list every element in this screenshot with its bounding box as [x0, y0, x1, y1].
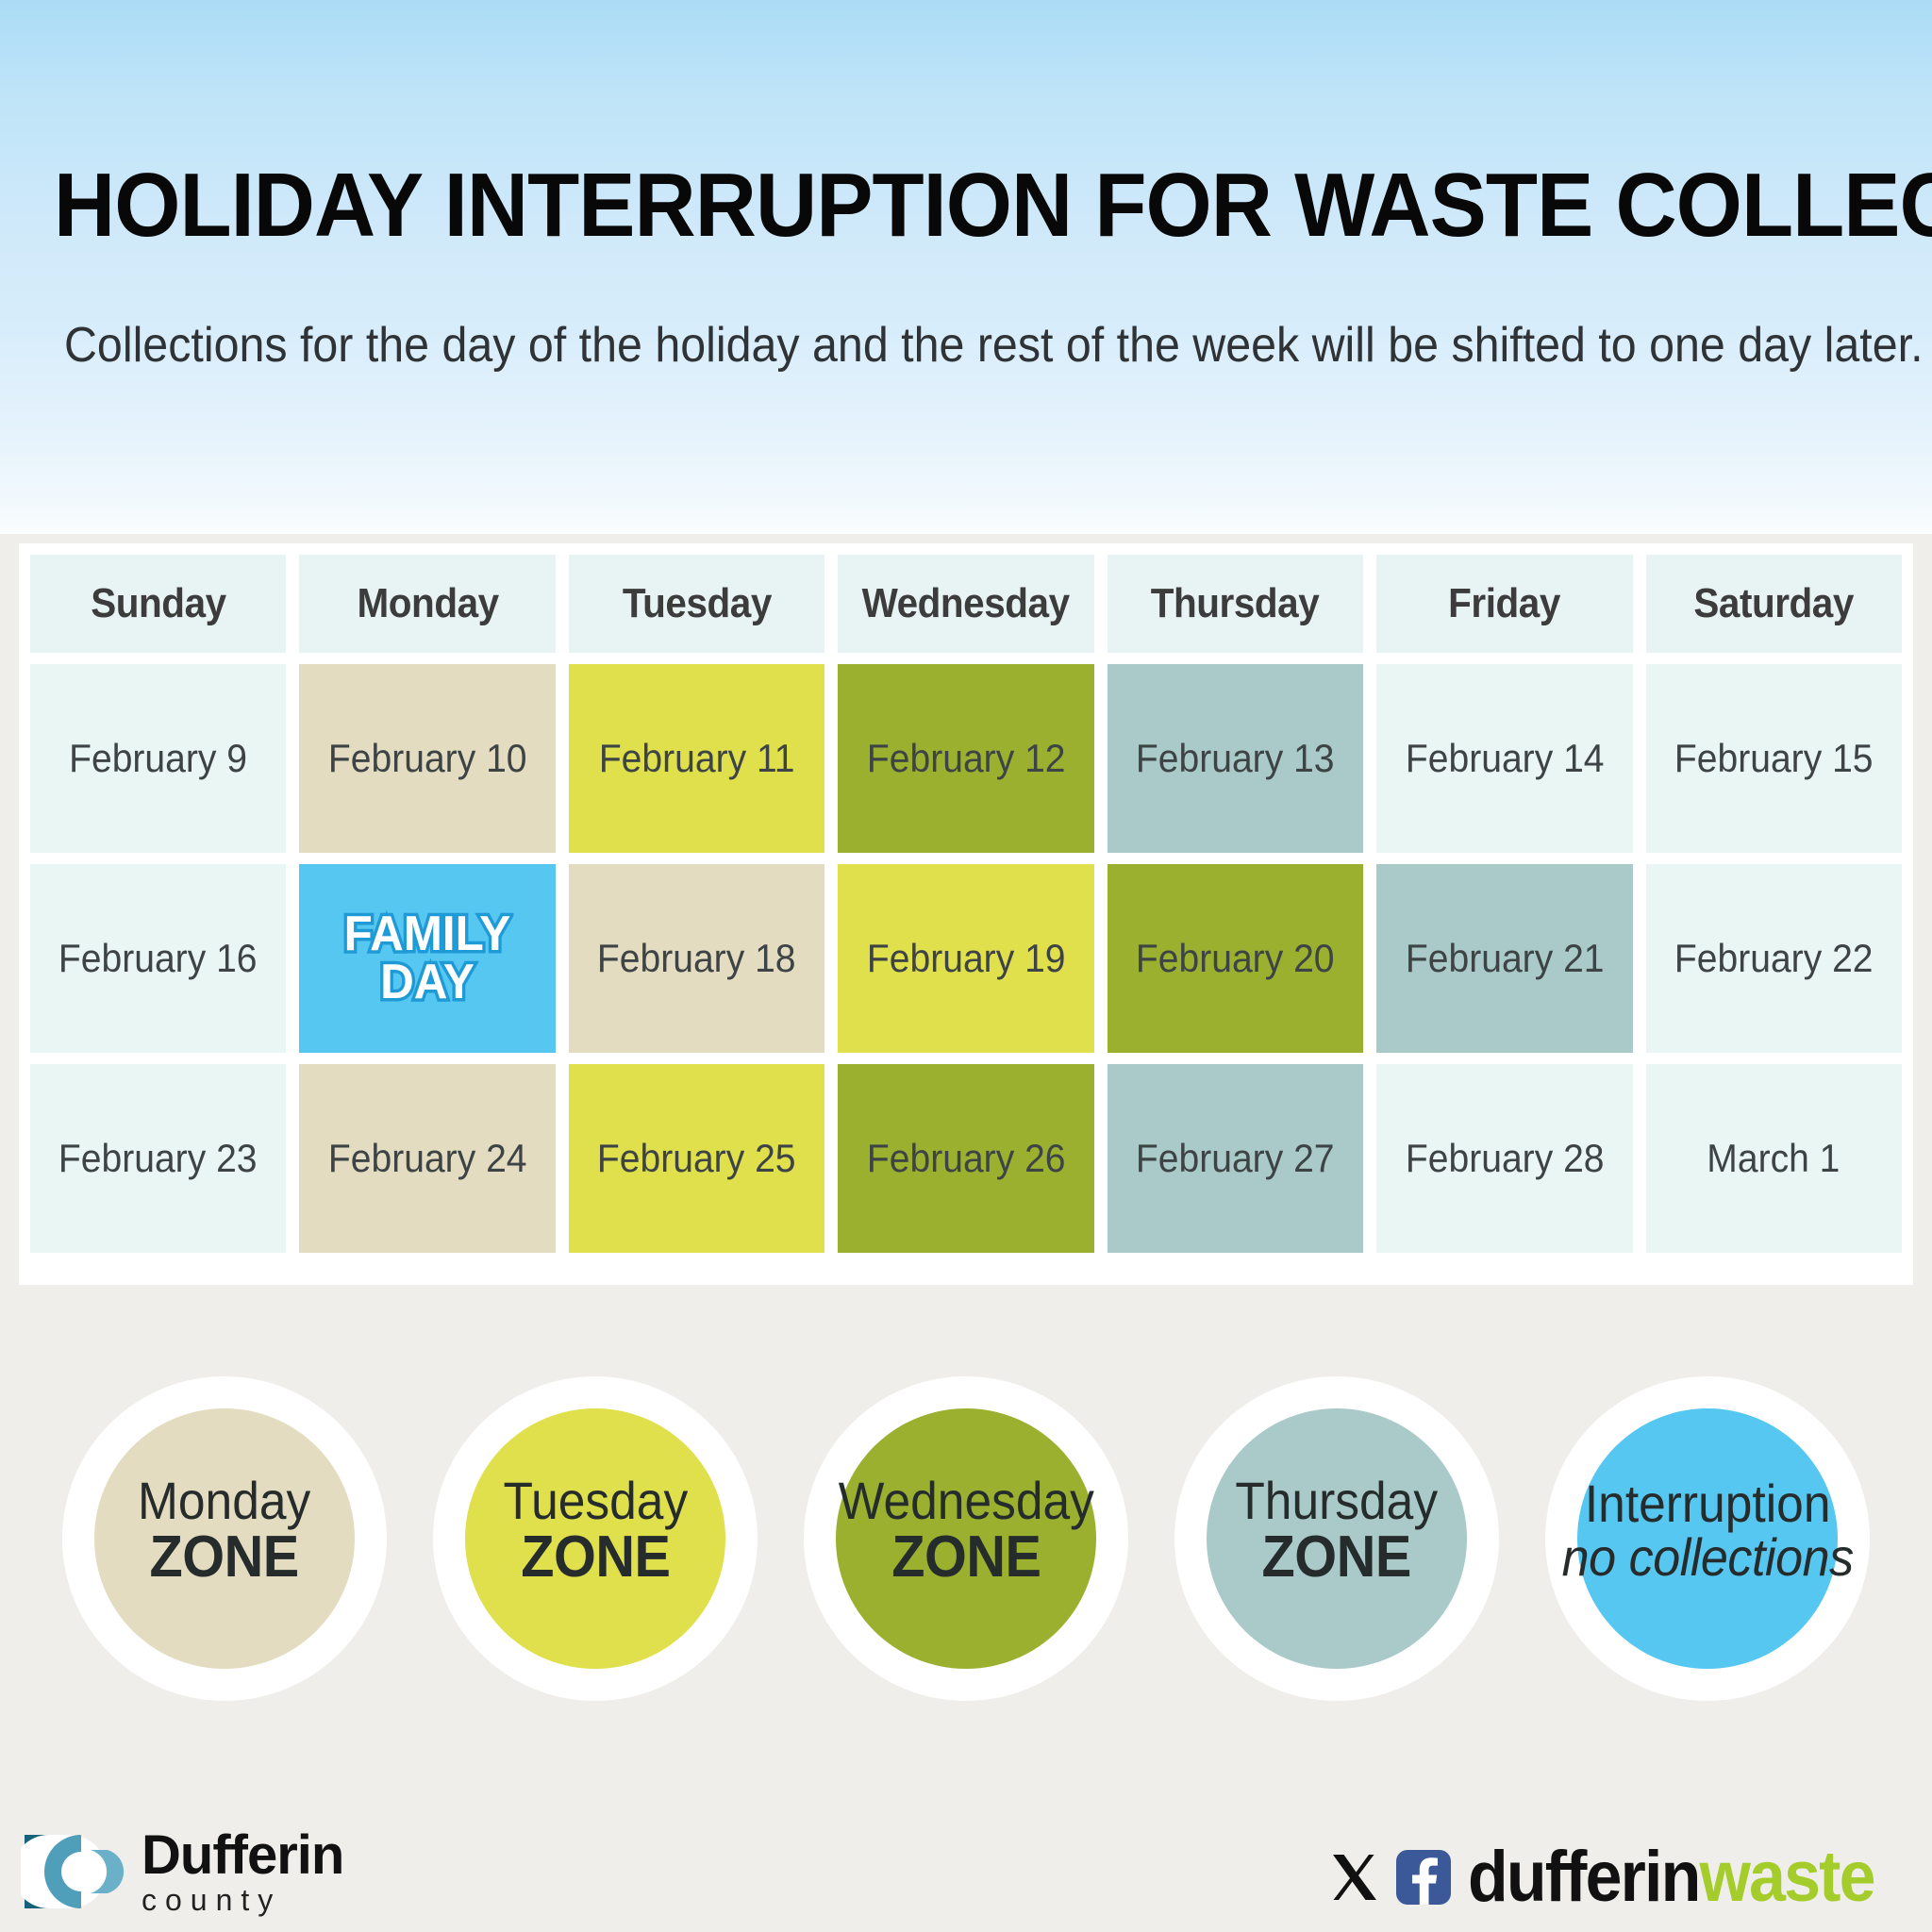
family-day-line1: FAMILY	[344, 907, 511, 961]
calendar-cell-label: February 26	[867, 1136, 1066, 1181]
legend-label: Tuesday ZONE	[495, 1474, 696, 1587]
calendar-cell-label: March 1	[1707, 1136, 1840, 1181]
weekday-label: Thursday	[1151, 580, 1320, 627]
dufferin-dc-mark-icon	[21, 1831, 126, 1912]
weekday-header-saturday: Saturday	[1646, 555, 1902, 653]
calendar-cell-label: February 13	[1136, 736, 1335, 781]
weekday-label: Monday	[357, 580, 498, 627]
calendar-cell: February 9	[30, 664, 286, 853]
infographic-page: HOLIDAY INTERRUPTION FOR WASTE COLLECTIO…	[0, 0, 1932, 1932]
calendar-cell: February 13	[1108, 664, 1363, 853]
legend-label: Thursday ZONE	[1226, 1474, 1446, 1587]
county-subname: county	[142, 1885, 343, 1915]
weekday-label: Friday	[1448, 580, 1560, 627]
calendar-cell-label: February 22	[1674, 936, 1874, 981]
calendar-cell: February 12	[838, 664, 1093, 853]
calendar-cell: February 25	[569, 1064, 824, 1253]
weekday-label: Tuesday	[623, 580, 772, 627]
calendar-cell: February 26	[838, 1064, 1093, 1253]
calendar-cell: February 27	[1108, 1064, 1363, 1253]
dufferin-county-logo[interactable]: Dufferin county	[21, 1828, 343, 1915]
legend-label-top: Thursday	[1236, 1474, 1439, 1527]
handle-part-waste: waste	[1699, 1837, 1874, 1917]
legend-label-top: Monday	[138, 1474, 310, 1527]
calendar-cell: February 16	[30, 864, 286, 1053]
legend-label-top: Wednesday	[838, 1474, 1093, 1527]
dufferin-waste-handle: dufferinwaste	[1468, 1841, 1874, 1913]
legend-label-bottom: ZONE	[502, 1527, 689, 1587]
calendar-cell-label: February 10	[328, 736, 527, 781]
calendar-cell-label: February 20	[1136, 936, 1335, 981]
calendar-cell: February 21	[1376, 864, 1632, 1053]
calendar-cell: February 20	[1108, 864, 1363, 1053]
zone-legend: Monday ZONE Tuesday ZONE Wednesday ZONE	[0, 1363, 1932, 1722]
calendar-cell: February 10	[299, 664, 555, 853]
legend-label: Interruption no collections	[1551, 1476, 1864, 1584]
calendar-cell-label: February 25	[597, 1136, 796, 1181]
calendar-cell-family-day: FAMILY DAY	[299, 864, 555, 1053]
calendar-cell: February 23	[30, 1064, 286, 1253]
weekday-header-wednesday: Wednesday	[838, 555, 1093, 653]
page-title: HOLIDAY INTERRUPTION FOR WASTE COLLECTIO…	[54, 160, 1791, 251]
legend-label-bottom: ZONE	[837, 1527, 1095, 1587]
weekday-header-tuesday: Tuesday	[569, 555, 824, 653]
family-day-line2: DAY	[344, 958, 511, 1007]
calendar-cell-label: February 27	[1136, 1136, 1335, 1181]
county-name: Dufferin	[142, 1828, 343, 1883]
legend-item-interruption: Interruption no collections	[1541, 1363, 1874, 1703]
weekday-label: Wednesday	[862, 580, 1070, 627]
calendar-cell-label: February 11	[599, 736, 795, 781]
sky-gradient-header	[0, 0, 1932, 534]
calendar-cell-label: February 14	[1406, 736, 1605, 781]
weekday-header-sunday: Sunday	[30, 555, 286, 653]
legend-item-wednesday-zone: Wednesday ZONE	[800, 1363, 1132, 1703]
page-subtitle: Collections for the day of the holiday a…	[64, 319, 1784, 373]
weekday-label: Sunday	[91, 580, 225, 627]
legend-item-tuesday-zone: Tuesday ZONE	[429, 1363, 761, 1703]
calendar-cell: February 19	[838, 864, 1093, 1053]
calendar-cell-label: February 21	[1406, 936, 1605, 981]
weekday-header-monday: Monday	[299, 555, 555, 653]
family-day-badge: FAMILY DAY	[344, 910, 511, 1007]
legend-label: Wednesday ZONE	[827, 1474, 1106, 1587]
legend-label: Monday ZONE	[130, 1474, 318, 1587]
handle-part-dufferin: dufferin	[1468, 1837, 1700, 1917]
legend-item-monday-zone: Monday ZONE	[58, 1363, 391, 1703]
weekday-header-thursday: Thursday	[1108, 555, 1363, 653]
social-handles[interactable]: dufferinwaste	[1326, 1841, 1909, 1913]
calendar-cell: February 11	[569, 664, 824, 853]
calendar-cell: February 24	[299, 1064, 555, 1253]
calendar-panel: Sunday Monday Tuesday Wednesday Thursday…	[19, 543, 1913, 1285]
legend-label-top: Interruption	[1563, 1476, 1852, 1530]
calendar-grid: Sunday Monday Tuesday Wednesday Thursday…	[30, 555, 1902, 1266]
legend-label-bottom: no collections	[1561, 1530, 1853, 1584]
calendar-cell-label: February 15	[1674, 736, 1874, 781]
calendar-cell: February 22	[1646, 864, 1902, 1053]
legend-label-top: Tuesday	[503, 1474, 688, 1527]
calendar-cell-label: February 19	[867, 936, 1066, 981]
x-twitter-icon[interactable]	[1326, 1849, 1383, 1906]
legend-label-bottom: ZONE	[1234, 1527, 1439, 1587]
weekday-label: Saturday	[1693, 580, 1854, 627]
calendar-cell-label: February 9	[69, 736, 247, 781]
calendar-cell-label: February 28	[1406, 1136, 1605, 1181]
footer: Dufferin county dufferinwaste	[0, 1790, 1932, 1932]
calendar-cell-label: February 23	[58, 1136, 258, 1181]
calendar-cell-label: February 24	[328, 1136, 527, 1181]
legend-label-bottom: ZONE	[137, 1527, 311, 1587]
calendar-cell-label: February 16	[58, 936, 258, 981]
facebook-icon[interactable]	[1394, 1848, 1453, 1907]
calendar-cell: February 14	[1376, 664, 1632, 853]
calendar-cell-label: February 18	[597, 936, 796, 981]
calendar-cell-label: February 12	[867, 736, 1066, 781]
legend-item-thursday-zone: Thursday ZONE	[1171, 1363, 1503, 1703]
calendar-cell: February 28	[1376, 1064, 1632, 1253]
calendar-cell: February 15	[1646, 664, 1902, 853]
calendar-cell: February 18	[569, 864, 824, 1053]
calendar-cell: March 1	[1646, 1064, 1902, 1253]
dufferin-county-wordmark: Dufferin county	[142, 1828, 343, 1915]
weekday-header-friday: Friday	[1376, 555, 1632, 653]
